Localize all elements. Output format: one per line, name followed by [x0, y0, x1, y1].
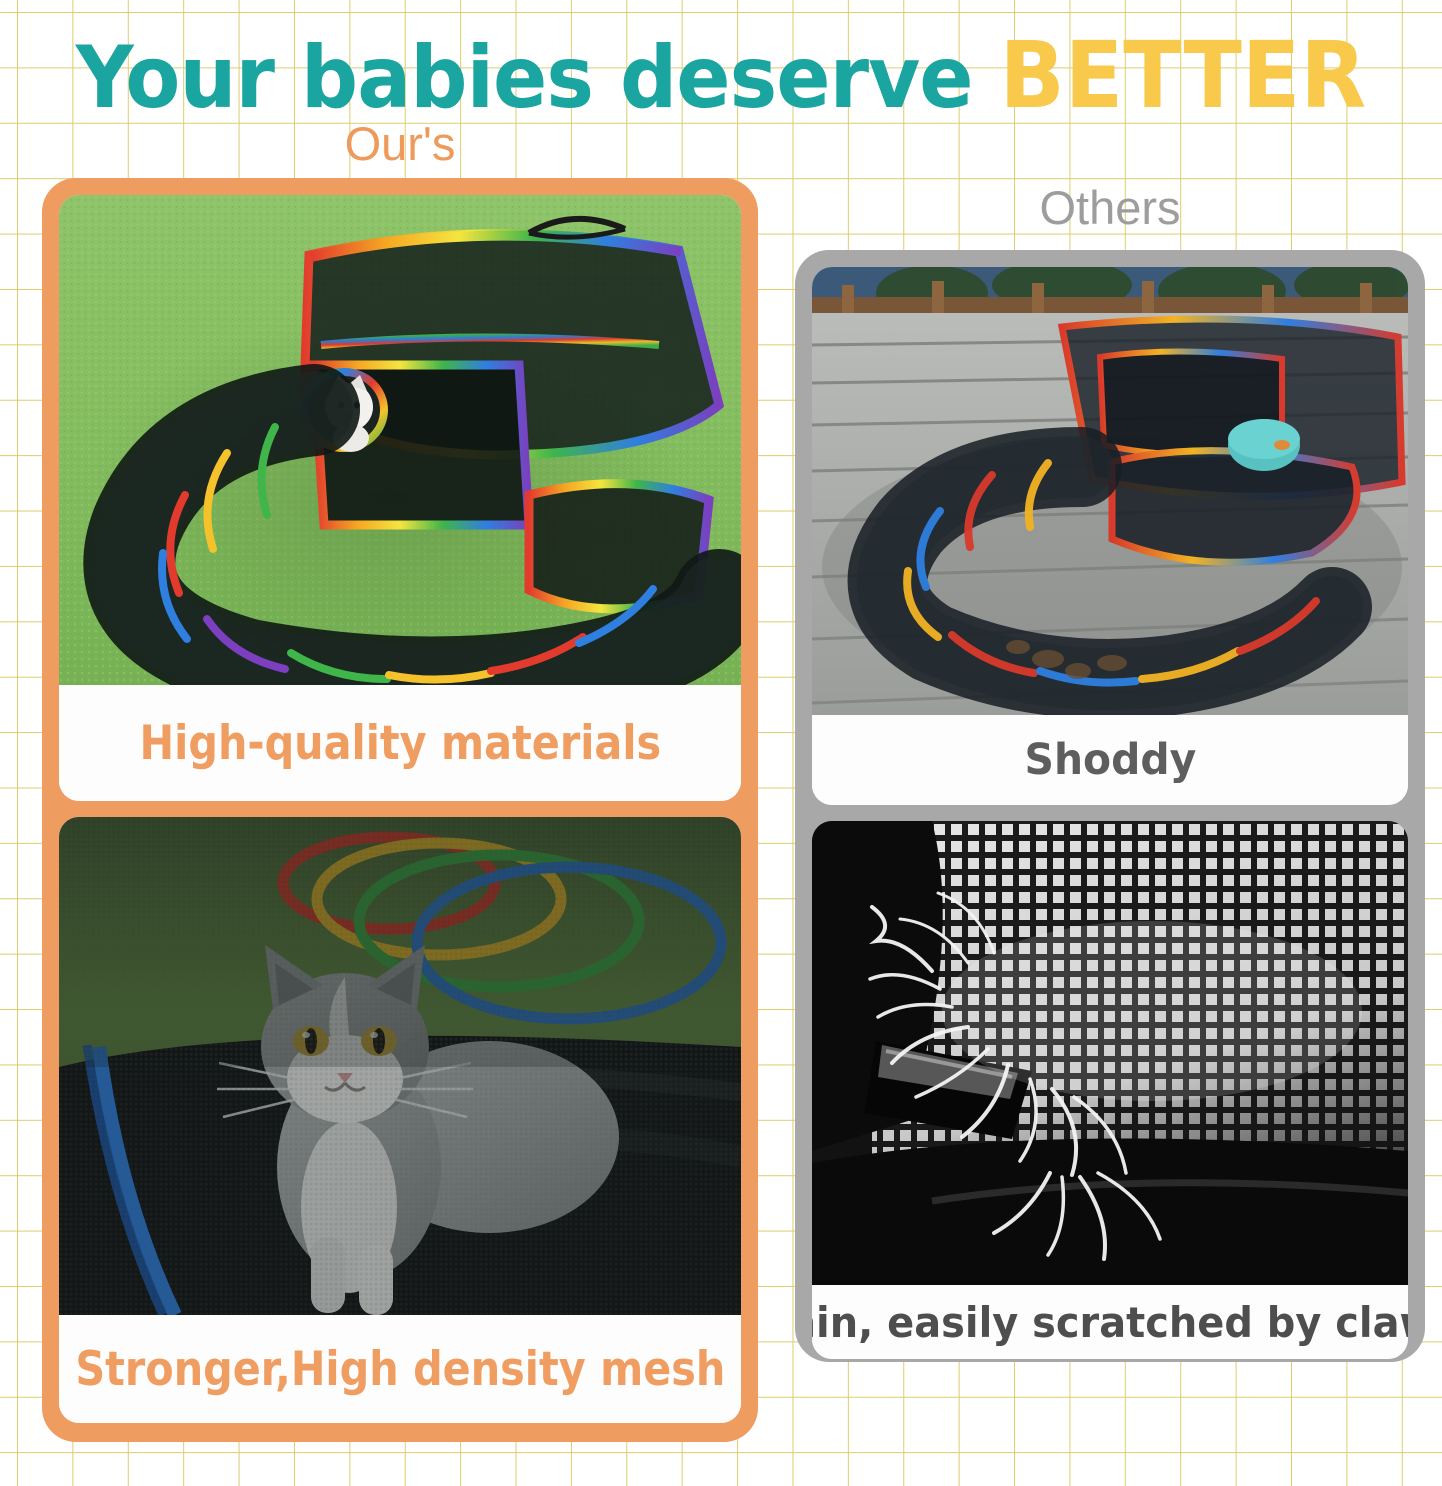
caption-others-2-text: Thin, easily scratched by claws: [812, 1298, 1408, 1347]
column-label-ours: Our's: [42, 116, 758, 172]
page-title-emphasis: BETTER: [1000, 22, 1367, 129]
caption-ours-2-text: Stronger,High density mesh: [75, 1342, 725, 1397]
panel-others-shoddy: Shoddy: [812, 267, 1408, 805]
caption-others-1: Shoddy: [812, 715, 1408, 805]
photo-torn-frayed-mesh-closeup: [812, 821, 1408, 1285]
page-title: Your babies deserve BETTER: [50, 28, 1391, 126]
column-label-others: Others: [795, 180, 1425, 236]
photo-collapsed-tunnel-playpen-on-deck: [812, 267, 1408, 715]
caption-ours-2: Stronger,High density mesh: [59, 1315, 741, 1423]
caption-ours-1: High-quality materials: [59, 685, 741, 801]
caption-others-2: Thin, easily scratched by claws: [812, 1285, 1408, 1359]
panel-ours-high-quality: High-quality materials: [59, 195, 741, 801]
panel-others-thin-mesh: Thin, easily scratched by claws: [812, 821, 1408, 1359]
comparison-card-others: Shoddy: [795, 250, 1425, 1362]
panel-ours-mesh-density: Stronger,High density mesh: [59, 817, 741, 1423]
comparison-card-ours: High-quality materials: [42, 178, 758, 1442]
photo-rainbow-tunnel-playpen-on-grass: [59, 195, 741, 685]
page-title-primary: Your babies deserve: [76, 28, 1000, 128]
caption-ours-1-text: High-quality materials: [139, 716, 661, 771]
caption-others-1-text: Shoddy: [1024, 735, 1196, 785]
photo-grey-white-cat-inside-mesh-tent: [59, 817, 741, 1315]
